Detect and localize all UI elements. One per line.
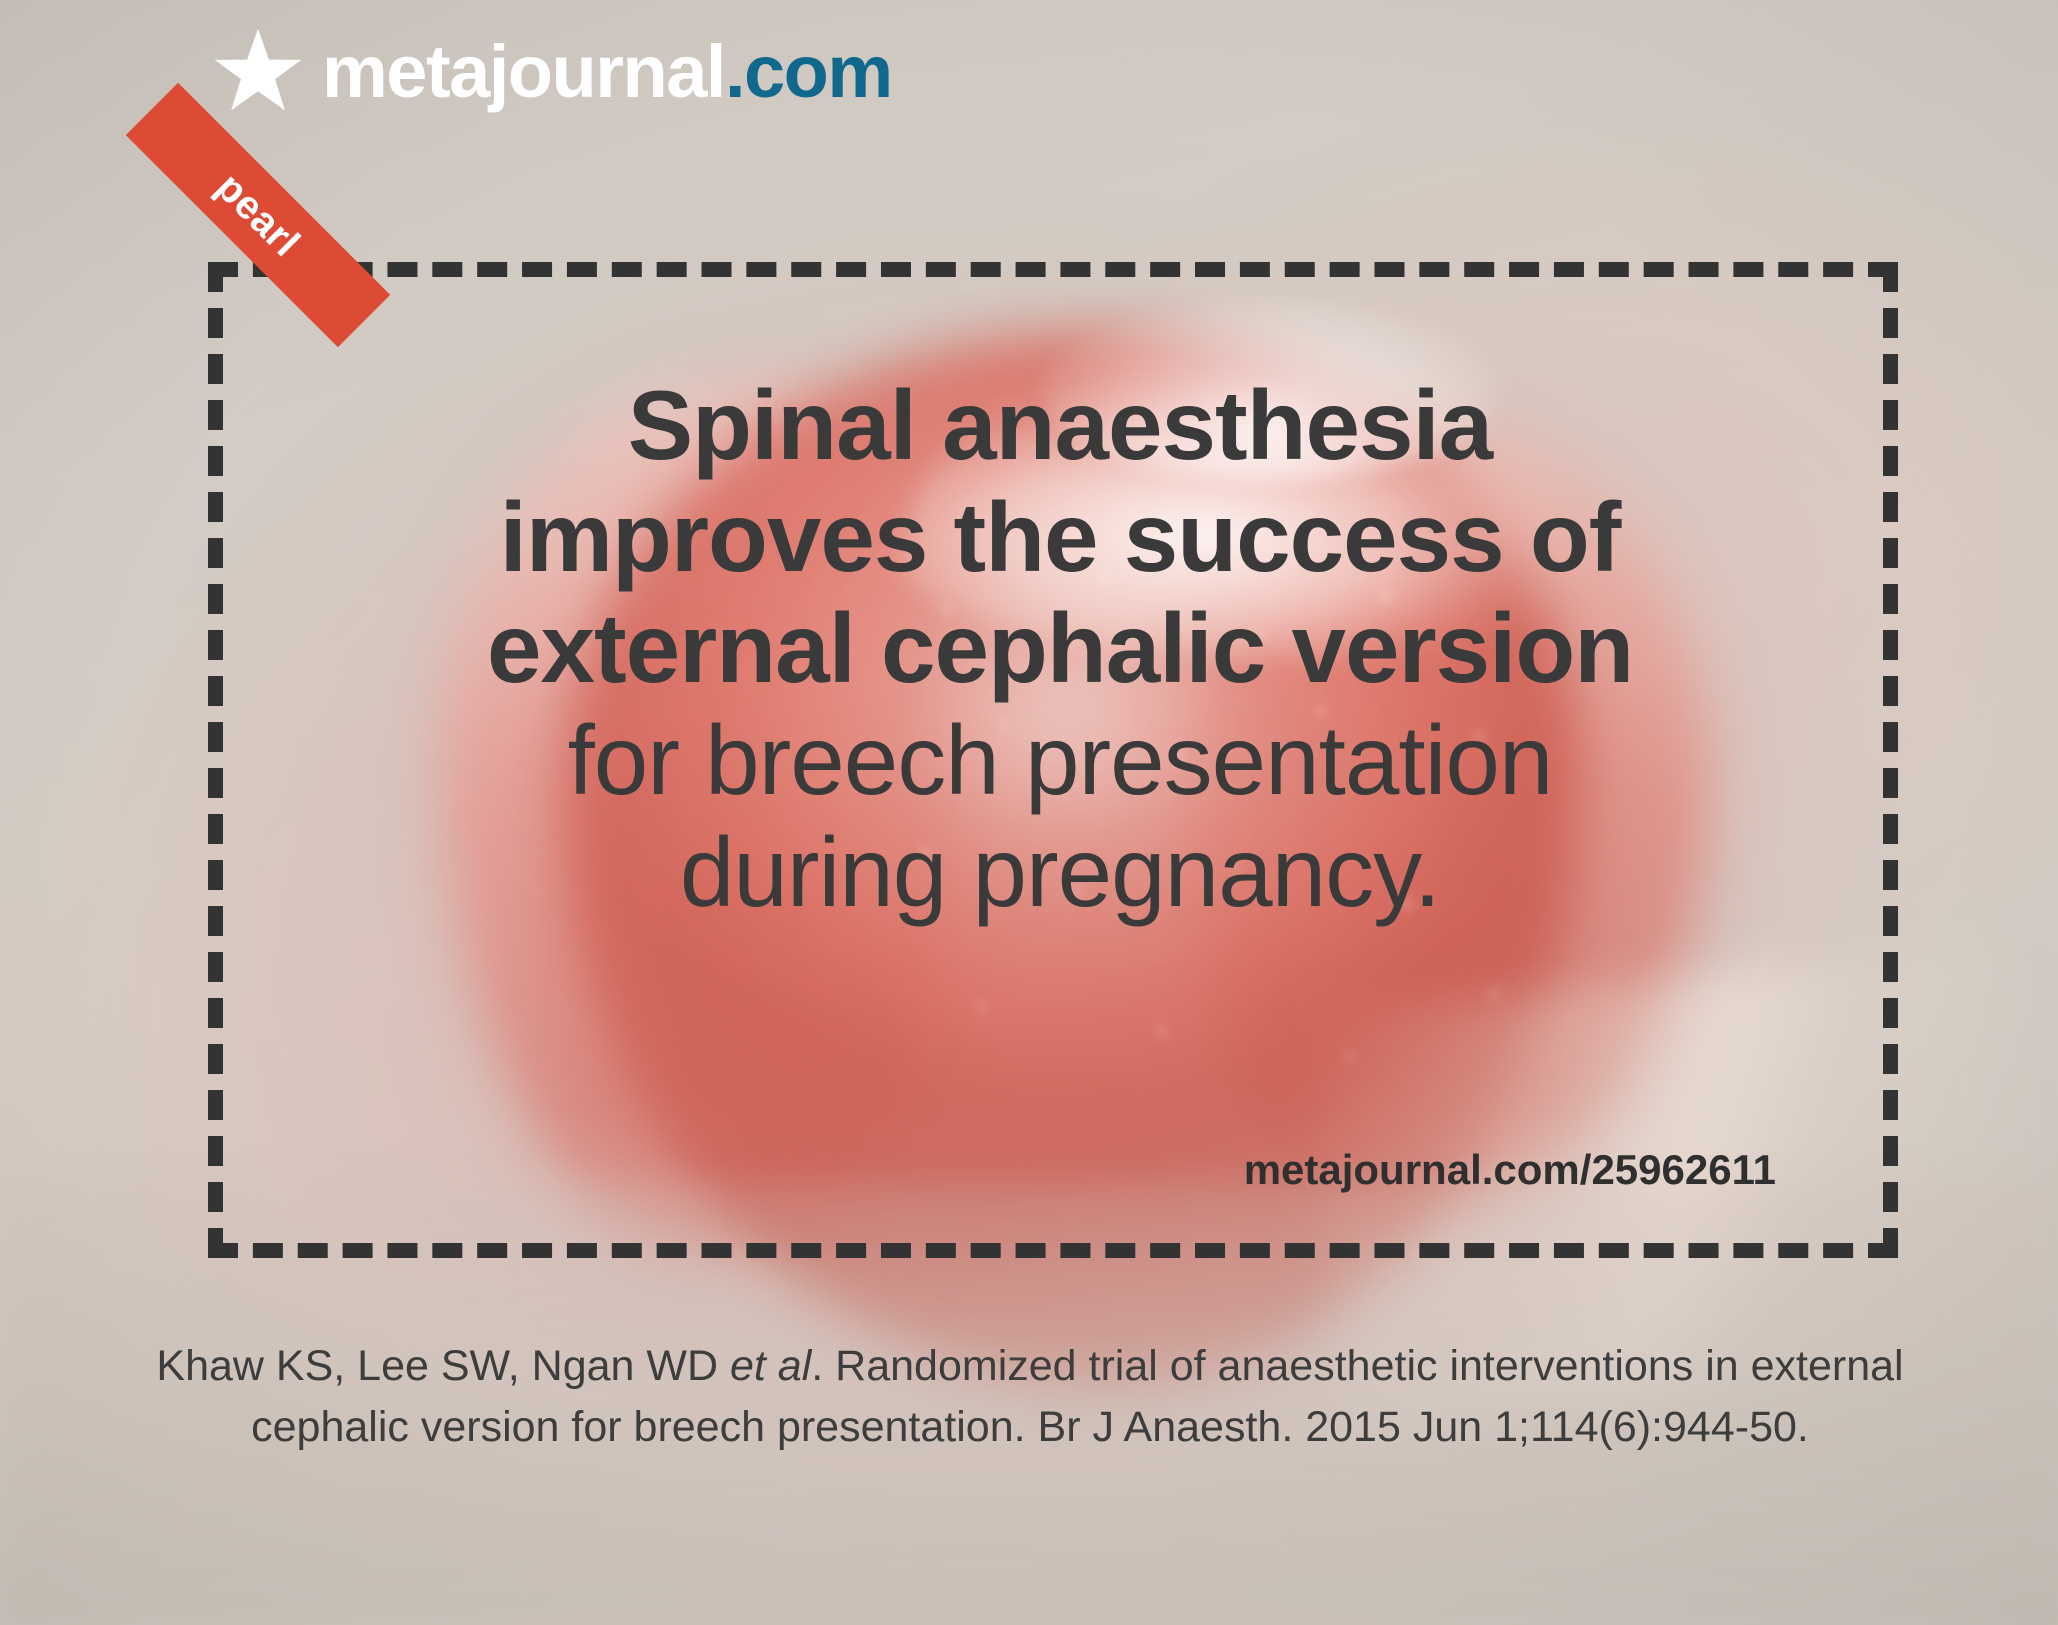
- citation-et-al: et al: [730, 1342, 811, 1390]
- logo-wordmark: metajournal.com: [322, 35, 892, 109]
- pearl-card-page: metajournal.com pearl Spinal anaesthesia…: [0, 0, 2058, 1625]
- title-line-5: during pregnancy.: [280, 817, 1840, 929]
- title-line-3: external cephalic version: [280, 593, 1840, 705]
- article-permalink[interactable]: metajournal.com/25962611: [1244, 1146, 1776, 1194]
- citation-authors: Khaw KS, Lee SW, Ngan WD: [156, 1342, 730, 1390]
- article-citation: Khaw KS, Lee SW, Ngan WD et al. Randomiz…: [150, 1336, 1910, 1458]
- site-logo[interactable]: metajournal.com: [212, 26, 892, 118]
- star-icon: [212, 26, 304, 118]
- title-line-4: for breech presentation: [280, 705, 1840, 817]
- logo-tld-text: .com: [725, 30, 892, 113]
- article-title: Spinal anaesthesia improves the success …: [280, 370, 1840, 929]
- logo-name-text: metajournal: [322, 30, 725, 113]
- title-line-2: improves the success of: [280, 482, 1840, 594]
- title-line-1: Spinal anaesthesia: [280, 370, 1840, 482]
